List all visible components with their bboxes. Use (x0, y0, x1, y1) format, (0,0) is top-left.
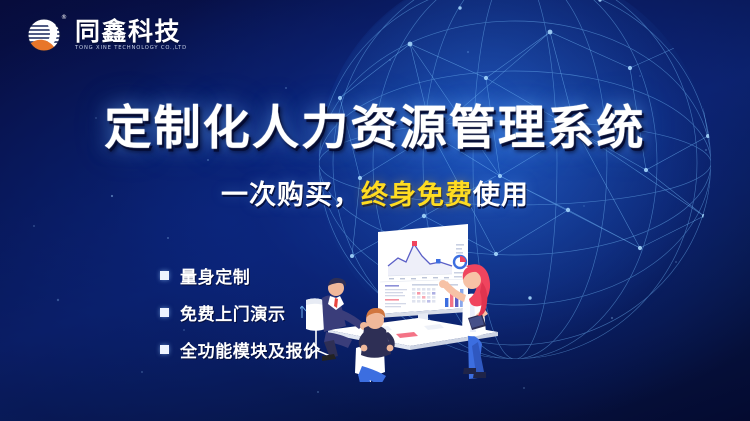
subtitle-suffix: 使用 (473, 180, 529, 211)
feature-label: 量身定制 (180, 263, 250, 288)
list-item: 量身定制 (160, 263, 321, 288)
seated-man-back-view (355, 308, 395, 382)
feature-list: 量身定制 免费上门演示 全功能模块及报价 (160, 263, 321, 362)
business-meeting-dashboard-illustration (300, 222, 545, 382)
page-subtitle: 一次购买，终身免费使用 (0, 173, 750, 212)
page-title: 定制化人力资源管理系统 (0, 101, 750, 156)
registered-mark: ® (61, 15, 67, 21)
standing-woman-presenter (439, 264, 490, 379)
square-bullet-icon (160, 271, 169, 280)
subtitle-prefix: 一次购买， (221, 180, 361, 211)
brand-name-en: TONG XINE TECHNOLOGY CO.,LTD (75, 46, 187, 51)
brand-name-cn: 同鑫科技 (75, 19, 187, 45)
subtitle-highlight: 终身免费 (361, 180, 473, 211)
promo-banner: ® 同鑫科技 TONG XINE TECHNOLOGY CO.,LTD 定制化人… (0, 0, 750, 421)
list-item: 免费上门演示 (160, 300, 321, 325)
globe-stripes-logo-icon: ® (24, 14, 66, 56)
list-item: 全功能模块及报价 (160, 337, 321, 362)
brand-logo[interactable]: ® 同鑫科技 TONG XINE TECHNOLOGY CO.,LTD (24, 14, 187, 56)
square-bullet-icon (160, 345, 169, 354)
dashboard-screen (378, 224, 468, 327)
feature-label: 免费上门演示 (180, 300, 286, 325)
square-bullet-icon (160, 308, 169, 317)
decor-accents (300, 306, 306, 318)
